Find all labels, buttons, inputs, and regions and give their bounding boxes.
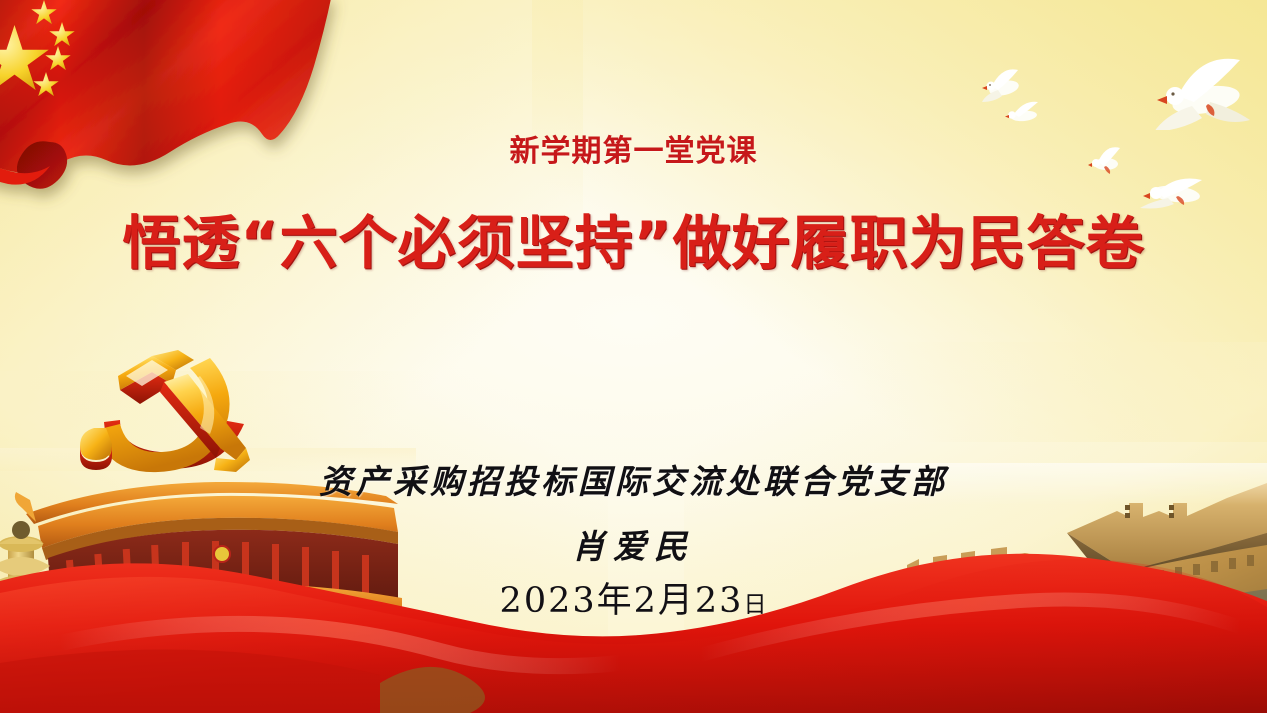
presentation-date: 2023年2月23日: [0, 572, 1267, 623]
text-layer: 新学期第一堂党课 悟透“六个必须坚持”做好履职为民答卷 资产采购招投标国际交流处…: [0, 0, 1267, 713]
date-suffix: 日: [743, 592, 767, 618]
presentation-cover-slide: 中华人民共和国万岁: [0, 0, 1267, 713]
presenter-name: 肖爱民: [0, 520, 1267, 568]
date-main: 2023年2月23: [500, 581, 744, 621]
course-subtitle: 新学期第一堂党课: [0, 126, 1267, 170]
organization-name: 资产采购招投标国际交流处联合党支部: [0, 455, 1267, 503]
page-title: 悟透“六个必须坚持”做好履职为民答卷: [0, 196, 1267, 280]
